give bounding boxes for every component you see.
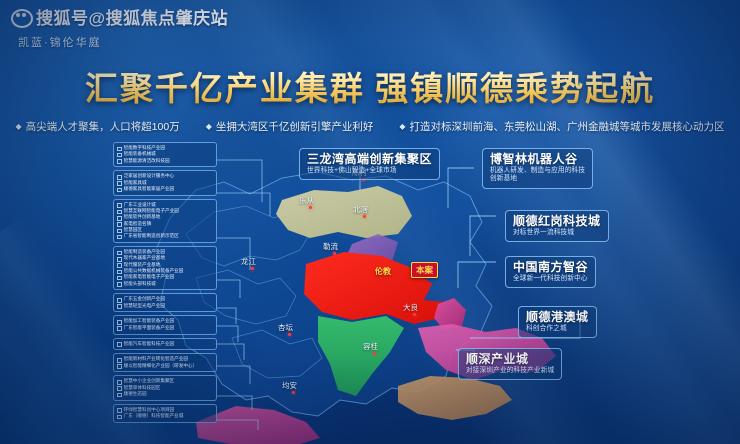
callout-sanlongwan[interactable]: 三龙湾高端创新集聚区 世界科技+佛山智造+全球市场 [299, 148, 440, 180]
bullet-square-icon [117, 251, 122, 256]
park-group[interactable]: 智慧中小企业创新集聚区 智慧单体科技园区 顺德生态园 [113, 375, 217, 400]
brand-block[interactable]: 搜狐号@搜狐焦点肇庆站 [10, 4, 228, 29]
callout-title: 中国南方智谷 [513, 260, 588, 275]
list-item: 广东智能平面装备产业园 [117, 325, 213, 331]
map-label-beijiao: 北滘 [353, 204, 368, 215]
list-item-label: 广东（顺德）科技智能产业城 [124, 413, 184, 419]
list-item: 顺德生态园 [117, 391, 213, 397]
map-label-junan: 均安 [282, 380, 297, 391]
bullet-square-icon [117, 263, 122, 268]
bullet-square-icon [117, 386, 122, 391]
list-item-label: 智能汽车智能科技产业园 [124, 341, 175, 347]
list-item-label: 顺德家具智能家居产业园 [124, 186, 175, 192]
brand-title: 搜狐号@搜狐焦点肇庆站 [36, 4, 228, 29]
bullet-square-icon [117, 235, 122, 240]
bullet-square-icon [117, 257, 122, 262]
map-pin [413, 313, 416, 316]
diamond-icon: ◆ [399, 122, 405, 131]
map-label-daliang: 大良 [403, 302, 418, 313]
bullet-square-icon [117, 342, 122, 347]
bullet-item: ◆ 高尖端人才聚集，人口将超100万 [16, 119, 180, 134]
bullet-square-icon [117, 181, 122, 186]
map-region: 陈村 乐从 北滘 伦教 勒流 龙江 大良 杏坛 容桂 均安 本案 [0, 138, 740, 444]
map-pin [309, 206, 312, 209]
park-group[interactable]: 广东工业设计城 智慧互联网智能电子产业园 智能软件创新基地 家电智造名镇 智慧园… [113, 199, 217, 243]
bullet-square-icon [117, 320, 122, 325]
map-label-ronggui: 容桂 [363, 341, 378, 352]
industrial-park-list: 智能数字科技产业园 智能装备机械城 智慧能源清洁改科技园 泛家居创新设计服务中心… [113, 142, 217, 426]
bullet-square-icon [117, 393, 122, 398]
callout-title: 顺德红岗科技城 [513, 214, 601, 229]
callout-title: 三龙湾高端创新集聚区 [307, 152, 432, 167]
list-item: 智慧能源清洁改科技园 [117, 158, 213, 164]
list-item-label: 智慧能源清洁改科技园 [124, 158, 170, 164]
map-label-xingtan: 杏坛 [278, 322, 293, 333]
bullet-item: ◆ 打造对标深圳前海、东莞松山湖、广州金融城等城市发展核心动力区 [399, 119, 724, 134]
map-label-lunjiao: 伦教 [375, 266, 391, 277]
callout-subtitle: 科创合作之城 [526, 325, 589, 333]
callout-subtitle: 全球新一代科技创新中心 [513, 275, 588, 283]
map-pin [292, 391, 295, 394]
diamond-icon: ◆ [16, 122, 22, 131]
map-pin [373, 352, 376, 355]
bullet-square-icon [117, 147, 122, 152]
bullet-square-icon [117, 210, 122, 215]
map-pin [363, 215, 366, 218]
bullet-text: 坐拥大湾区千亿创新引擎产业利好 [216, 119, 374, 134]
diamond-icon: ◆ [206, 122, 212, 131]
map-label-lecong: 乐从 [299, 195, 314, 206]
list-item-label: 顺以智能精细化产业园（研发中心） [124, 363, 198, 369]
bullet-square-icon [117, 304, 122, 309]
bullet-square-icon [117, 216, 122, 221]
list-item-label: 顺德生态园 [124, 391, 147, 397]
park-group[interactable]: 智能制造装备产业园 现代木器家产业基地 现代服装产业基地 智能公共数据机械装备产… [113, 246, 217, 290]
bullet-square-icon [117, 408, 122, 413]
callout-nanfangzhigu[interactable]: 中国南方智谷 全球新一代科技创新中心 [505, 256, 596, 288]
list-item: 顺以智能精细化产业园（研发中心） [117, 363, 213, 369]
callout-subtitle: 对标世界一流科技城 [513, 229, 601, 237]
park-group[interactable]: 智能新材料产业转化智造产业园 顺以智能精细化产业园（研发中心） [113, 353, 217, 372]
callout-honggang[interactable]: 顺德红岗科技城 对标世界一流科技城 [505, 210, 609, 242]
callout-shunshen[interactable]: 顺深产业城 对接深圳产业的科技产业新城 [458, 348, 562, 380]
bullet-square-icon [117, 175, 122, 180]
list-item: 顺德家具智能家居产业园 [117, 186, 213, 192]
bullet-square-icon [117, 364, 122, 369]
bullet-text: 打造对标深圳前海、东莞松山湖、广州金融城等城市发展核心动力区 [410, 119, 725, 134]
bullet-square-icon [117, 203, 122, 208]
callout-title: 博智林机器人谷 [490, 152, 585, 167]
callout-bozhilin[interactable]: 博智林机器人谷 机器人研发、制造与应用的科技 创新基地 [482, 148, 593, 189]
callout-gangaocheng[interactable]: 顺德港澳城 科创合作之城 [518, 306, 597, 338]
callout-subtitle: 世界科技+佛山智造+全球市场 [307, 167, 432, 175]
map-label-longjiang: 龙江 [241, 256, 256, 267]
bullet-square-icon [117, 298, 122, 303]
list-item-label: 智能头部科技城 [124, 281, 156, 287]
bullet-square-icon [117, 159, 122, 164]
callout-subtitle: 机器人研发、制造与应用的科技 创新基地 [490, 167, 585, 184]
callout-title: 顺德港澳城 [526, 310, 589, 325]
bullet-square-icon [117, 276, 122, 281]
bullet-list: ◆ 高尖端人才聚集，人口将超100万 ◆ 坐拥大湾区千亿创新引擎产业利好 ◆ 打… [0, 119, 740, 134]
bullet-square-icon [117, 415, 122, 420]
bullet-square-icon [117, 358, 122, 363]
bullet-square-icon [117, 188, 122, 193]
bullet-square-icon [117, 270, 122, 275]
park-group[interactable]: 智能加工智能装备产业园 广东智能平面装备产业园 [113, 315, 217, 334]
list-item-label: 智慧轻型光电产业园 [124, 303, 165, 309]
park-group[interactable]: 环绿智慧科创中心项目园 广东（顺德）科技智能产业城 [113, 404, 217, 423]
list-item-label: 广东智能平面装备产业园 [124, 325, 175, 331]
page-title: 汇聚千亿产业集群 强镇顺德乘势起航 [0, 62, 740, 110]
bullet-square-icon [117, 380, 122, 385]
park-group[interactable]: 智能数字科技产业园 智能装备机械城 智慧能源清洁改科技园 [113, 142, 217, 167]
map-pin [288, 333, 291, 336]
map-pin [333, 252, 336, 255]
bullet-text: 高尖端人才聚集，人口将超100万 [26, 119, 180, 134]
park-group[interactable]: 泛家居创新设计服务中心 智能家具城 顺德家具智能家居产业园 [113, 170, 217, 195]
bullet-square-icon [117, 229, 122, 234]
shunde-map-svg [0, 138, 740, 444]
header-bar: 搜狐号@搜狐焦点肇庆站 凯蓝·锦伦华庭 [0, 0, 740, 52]
region-brown-south [398, 376, 512, 420]
callout-title: 顺深产业城 [466, 352, 554, 367]
list-item: 智能头部科技城 [117, 281, 213, 287]
bullet-square-icon [117, 222, 122, 227]
bullet-square-icon [117, 326, 122, 331]
list-item-label: 广东省智能制造创新示范区 [124, 233, 179, 239]
list-item: 智能汽车智能科技产业园 [117, 341, 213, 347]
map-pin [251, 267, 254, 270]
park-group[interactable]: 智能汽车智能科技产业园 [113, 338, 217, 351]
list-item: 智慧轻型光电产业园 [117, 303, 213, 309]
callout-subtitle: 对接深圳产业的科技产业新城 [466, 367, 554, 375]
bullet-square-icon [117, 153, 122, 158]
poster-root: 搜狐号@搜狐焦点肇庆站 凯蓝·锦伦华庭 汇聚千亿产业集群 强镇顺德乘势起航 ◆ … [0, 0, 740, 444]
park-group[interactable]: 广东五金创新产业园 智慧轻型光电产业园 [113, 293, 217, 312]
sohu-logo-icon [10, 6, 32, 28]
bullet-item: ◆ 坐拥大湾区千亿创新引擎产业利好 [206, 119, 374, 134]
project-location-marker[interactable]: 本案 [411, 262, 438, 278]
list-item: 广东（顺德）科技智能产业城 [117, 413, 213, 419]
bullet-square-icon [117, 282, 122, 287]
project-subtitle: 凯蓝·锦伦华庭 [18, 34, 102, 50]
map-label-leliu: 勒流 [323, 241, 338, 252]
list-item: 广东省智能制造创新示范区 [117, 233, 213, 239]
